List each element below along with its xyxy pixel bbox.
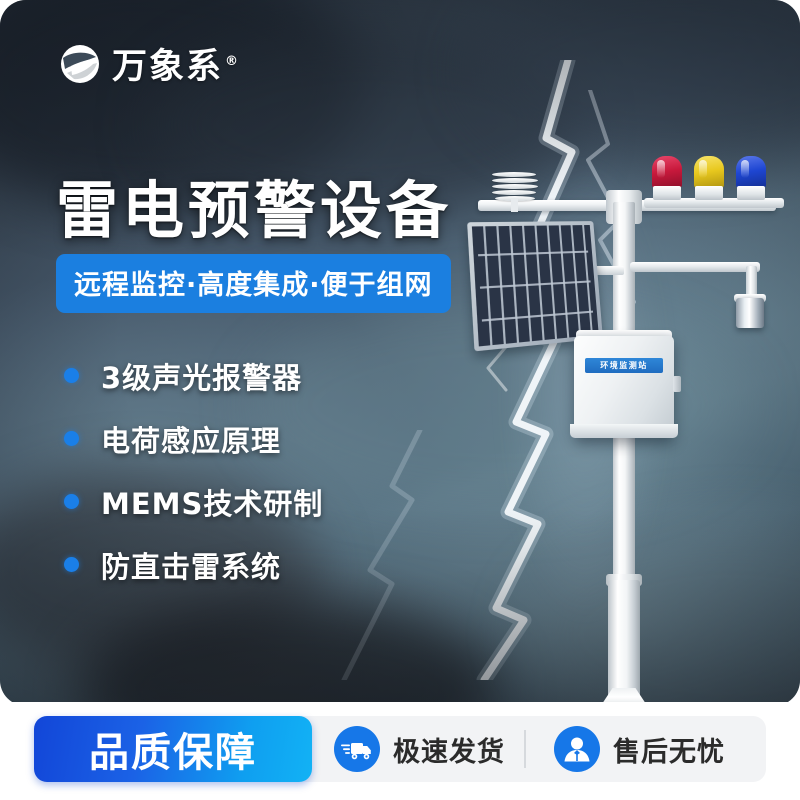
footer-item-after-sales: 售后无忧	[554, 726, 725, 772]
footer-bar: 品质保障 极速发货	[0, 702, 800, 800]
brand-name-text: 万象系	[112, 47, 223, 87]
list-item: 电荷感应原理	[64, 407, 323, 470]
equipment-box-latch	[673, 376, 681, 392]
footer-divider	[524, 730, 526, 768]
quality-badge-label: 品质保障	[89, 720, 257, 778]
globe-swoosh-icon	[58, 42, 102, 86]
product-poster: 环境监测站 万象系® 雷电预警设备 远程监控·高度集成·便于组网 3级声光报警器	[0, 0, 800, 800]
weather-station-product-image: 环境监测站	[430, 80, 800, 700]
feature-label: MEMS技术研制	[101, 481, 323, 523]
yellow-beacon-icon	[694, 156, 724, 202]
feature-label: 电荷感应原理	[101, 418, 281, 460]
page-title: 雷电预警设备	[56, 160, 452, 250]
bullet-dot-icon	[64, 557, 79, 572]
alarm-beacon-group	[652, 156, 772, 202]
radiation-shield-sensor-icon	[492, 172, 538, 206]
subtitle-banner: 远程监控·高度集成·便于组网	[56, 254, 451, 313]
support-agent-icon	[554, 726, 600, 772]
feature-label: 3级声光报警器	[101, 355, 302, 397]
trademark-symbol: ®	[225, 54, 240, 69]
equipment-box	[574, 336, 674, 438]
equipment-box-label: 环境监测站	[585, 358, 663, 373]
equipment-box-lip	[570, 424, 678, 438]
list-item: 防直击雷系统	[64, 533, 323, 596]
list-item: 3级声光报警器	[64, 344, 323, 407]
list-item: MEMS技术研制	[64, 470, 323, 533]
footer-item-fast-shipping: 极速发货	[334, 726, 505, 772]
footer-item-label: 极速发货	[393, 730, 505, 769]
cylinder-sensor	[736, 298, 764, 328]
shield-stem	[511, 198, 518, 212]
bullet-dot-icon	[64, 494, 79, 509]
bullet-dot-icon	[64, 368, 79, 383]
brand-logo: 万象系®	[58, 38, 240, 89]
footer-item-label: 售后无忧	[613, 730, 725, 769]
quality-badge: 品质保障	[34, 716, 312, 782]
delivery-truck-icon	[334, 726, 380, 772]
red-beacon-icon	[652, 156, 682, 202]
bullet-dot-icon	[64, 431, 79, 446]
subtitle-text: 远程监控·高度集成·便于组网	[74, 270, 433, 301]
equipment-box-label-text: 环境监测站	[600, 360, 648, 371]
blue-beacon-icon	[736, 156, 766, 202]
feature-label: 防直击雷系统	[101, 544, 281, 586]
brand-name: 万象系®	[112, 38, 240, 89]
sensor-arm-horizontal	[630, 262, 760, 272]
feature-list: 3级声光报警器 电荷感应原理 MEMS技术研制 防直击雷系统	[64, 344, 323, 596]
